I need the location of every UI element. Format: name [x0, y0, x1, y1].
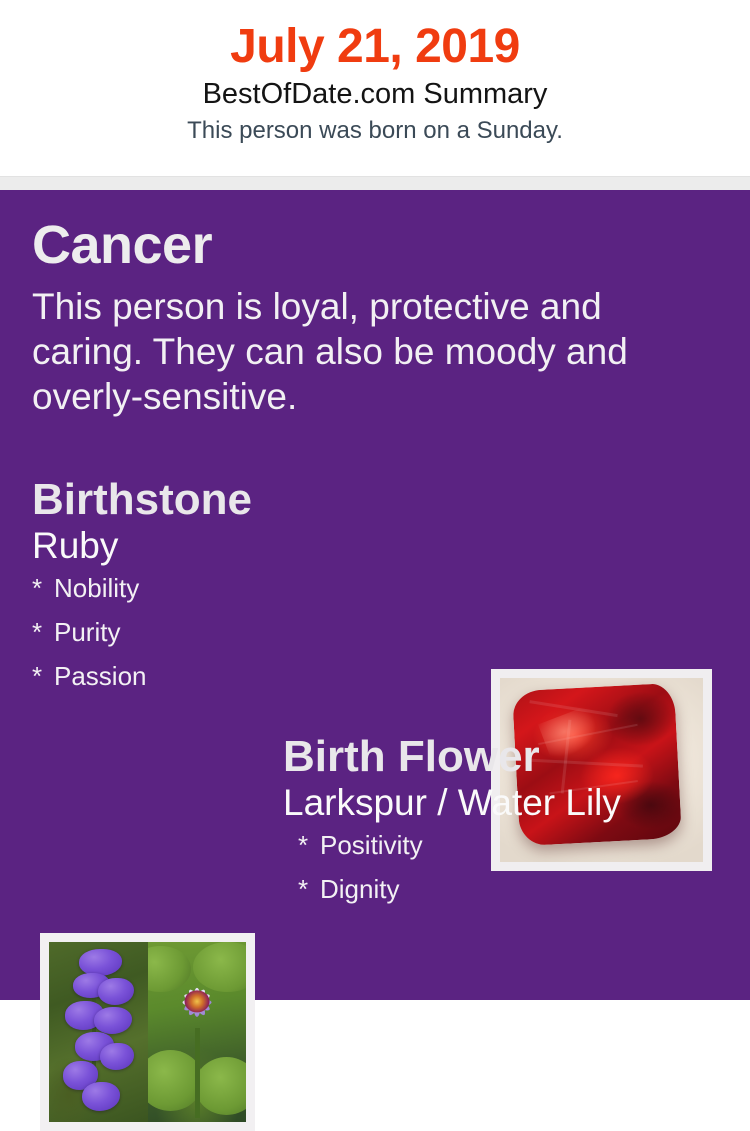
list-item: *Passion [32, 663, 472, 689]
birthstone-heading: Birthstone [32, 478, 472, 522]
larkspur-petal [94, 1007, 131, 1034]
bullet-star-icon: * [32, 575, 54, 601]
list-item: *Positivity [298, 832, 723, 858]
birthstone-trait-label: Passion [54, 661, 147, 691]
birthflower-name: Larkspur / Water Lily [283, 783, 723, 824]
page-header: July 21, 2019 BestOfDate.com Summary Thi… [0, 0, 750, 176]
birthflower-trait-label: Positivity [320, 830, 423, 860]
page-title: July 21, 2019 [0, 22, 750, 72]
water-lily-bloom [162, 973, 231, 1034]
lily-stamen-center [184, 991, 209, 1013]
summary-panel: Cancer This person is loyal, protective … [0, 190, 750, 1000]
header-divider [0, 176, 750, 190]
larkspur-petal [82, 1082, 119, 1111]
larkspur-water-lily-photo [49, 942, 246, 1122]
birthstone-trait-label: Nobility [54, 573, 139, 603]
list-item: *Dignity [298, 876, 723, 902]
birthstone-name: Ruby [32, 526, 472, 567]
lily-pad [195, 1057, 246, 1115]
birthstone-trait-label: Purity [54, 617, 120, 647]
list-item: *Purity [32, 619, 472, 645]
birthstone-section: Birthstone Ruby *Nobility *Purity *Passi… [32, 478, 472, 707]
list-item: *Nobility [32, 575, 472, 601]
site-summary-label: BestOfDate.com Summary [0, 78, 750, 111]
bullet-star-icon: * [298, 832, 320, 858]
birthflower-photo-frame [40, 933, 255, 1131]
larkspur-petal [98, 978, 133, 1005]
bullet-star-icon: * [298, 876, 320, 902]
bullet-star-icon: * [32, 619, 54, 645]
zodiac-sign-title: Cancer [32, 218, 720, 272]
larkspur-photo [49, 942, 148, 1122]
water-lily-photo [148, 942, 247, 1122]
birthflower-heading: Birth Flower [283, 735, 723, 779]
lily-stem [195, 1028, 200, 1118]
zodiac-description: This person is loyal, protective and car… [32, 284, 657, 419]
birthflower-section: Birth Flower Larkspur / Water Lily *Posi… [283, 735, 723, 920]
birthflower-trait-list: *Positivity *Dignity [283, 832, 723, 902]
larkspur-petal [100, 1043, 133, 1070]
bullet-star-icon: * [32, 663, 54, 689]
birthflower-trait-label: Dignity [320, 874, 399, 904]
birthstone-trait-list: *Nobility *Purity *Passion [32, 575, 472, 689]
larkspur-petal [79, 949, 122, 976]
birth-weekday-label: This person was born on a Sunday. [0, 117, 750, 145]
